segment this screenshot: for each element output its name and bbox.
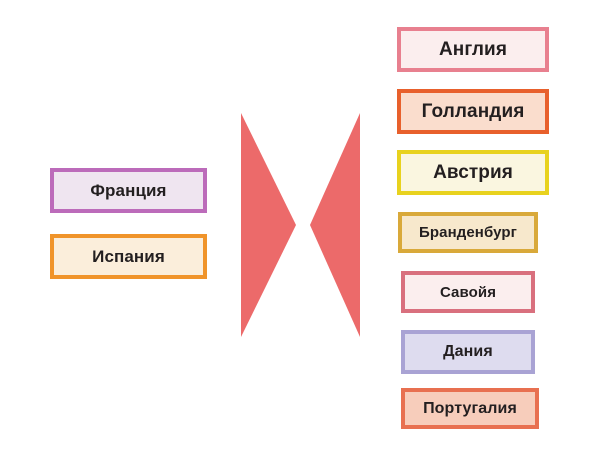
diagram-canvas: ФранцияИспания АнглияГолландияАвстрияБра…: [0, 0, 600, 453]
node-spain[interactable]: Испания: [50, 234, 207, 279]
node-label-denmark: Дания: [443, 344, 493, 360]
node-france[interactable]: Франция: [50, 168, 207, 213]
node-label-england: Англия: [439, 40, 507, 59]
node-austria[interactable]: Австрия: [397, 150, 549, 195]
node-label-spain: Испания: [92, 248, 165, 265]
node-denmark[interactable]: Дания: [401, 330, 535, 374]
left-triangle-arrow: [241, 113, 296, 337]
node-label-holland: Голландия: [422, 102, 525, 121]
right-triangle-arrow: [310, 113, 360, 337]
node-label-austria: Австрия: [433, 163, 513, 182]
node-label-france: Франция: [90, 182, 166, 199]
node-label-savoy: Савойя: [440, 285, 496, 300]
node-label-brandenburg: Бранденбург: [419, 225, 517, 240]
node-brandenburg[interactable]: Бранденбург: [398, 212, 538, 253]
node-holland[interactable]: Голландия: [397, 89, 549, 134]
node-label-portugal: Португалия: [423, 401, 517, 417]
node-england[interactable]: Англия: [397, 27, 549, 72]
node-savoy[interactable]: Савойя: [401, 271, 535, 313]
node-portugal[interactable]: Португалия: [401, 388, 539, 429]
